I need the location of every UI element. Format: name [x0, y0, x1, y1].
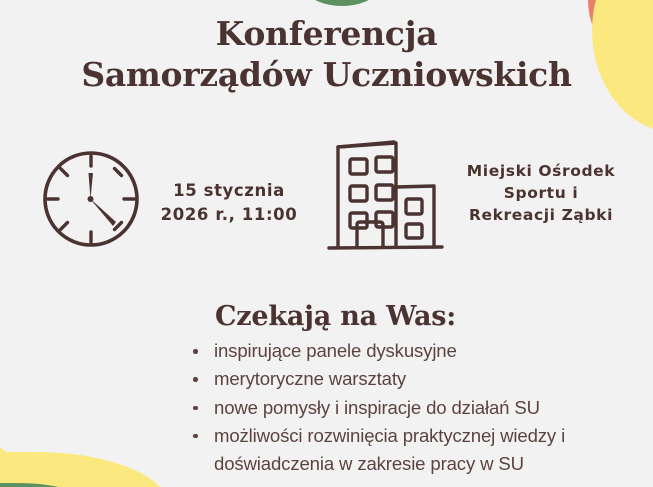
building-icon	[324, 135, 446, 260]
green-circle-decoration-top	[296, 0, 388, 6]
event-date-line-1: 15 stycznia	[146, 179, 312, 203]
agenda-item-text: merytoryczne warsztaty	[214, 368, 406, 389]
event-date: 15 stycznia 2026 r., 11:00	[146, 179, 312, 227]
yellow-wave-decoration-bottom-left-tail	[0, 452, 170, 487]
list-item: inspirujące panele dyskusyjne	[188, 337, 650, 365]
agenda-list: inspirujące panele dyskusyjne merytorycz…	[188, 337, 650, 478]
list-item: możliwości rozwinięcia praktycznej wiedz…	[188, 422, 650, 479]
event-venue-line-3: Rekreacji Ząbki	[443, 204, 639, 226]
event-venue-line-2: Sportu i	[443, 182, 639, 204]
event-venue: Miejski Ośrodek Sportu i Rekreacji Ząbki	[443, 160, 639, 226]
event-date-line-2: 2026 r., 11:00	[146, 203, 312, 227]
clock-icon	[38, 146, 144, 257]
poster-title-line-2: Samorządów Uczniowskich	[0, 55, 653, 96]
event-details-row: 15 stycznia 2026 r., 11:00	[0, 133, 653, 258]
list-item: nowe pomysły i inspiracje do działań SU	[188, 394, 650, 422]
agenda-heading: Czekają na Was:	[0, 301, 653, 332]
poster-canvas: Konferencja Samorządów Uczniowskich	[0, 0, 653, 487]
poster-title-line-1: Konferencja	[0, 14, 653, 55]
agenda-item-text: nowe pomysły i inspiracje do działań SU	[214, 397, 540, 418]
event-venue-line-1: Miejski Ośrodek	[443, 160, 639, 182]
agenda-item-text: możliwości rozwinięcia praktycznej wiedz…	[214, 425, 565, 446]
poster-title: Konferencja Samorządów Uczniowskich	[0, 14, 653, 95]
agenda-item-text-continuation: doświadczenia w zakresie pracy w SU	[214, 450, 650, 478]
list-item: merytoryczne warsztaty	[188, 365, 650, 393]
agenda-item-text: inspirujące panele dyskusyjne	[214, 340, 457, 361]
